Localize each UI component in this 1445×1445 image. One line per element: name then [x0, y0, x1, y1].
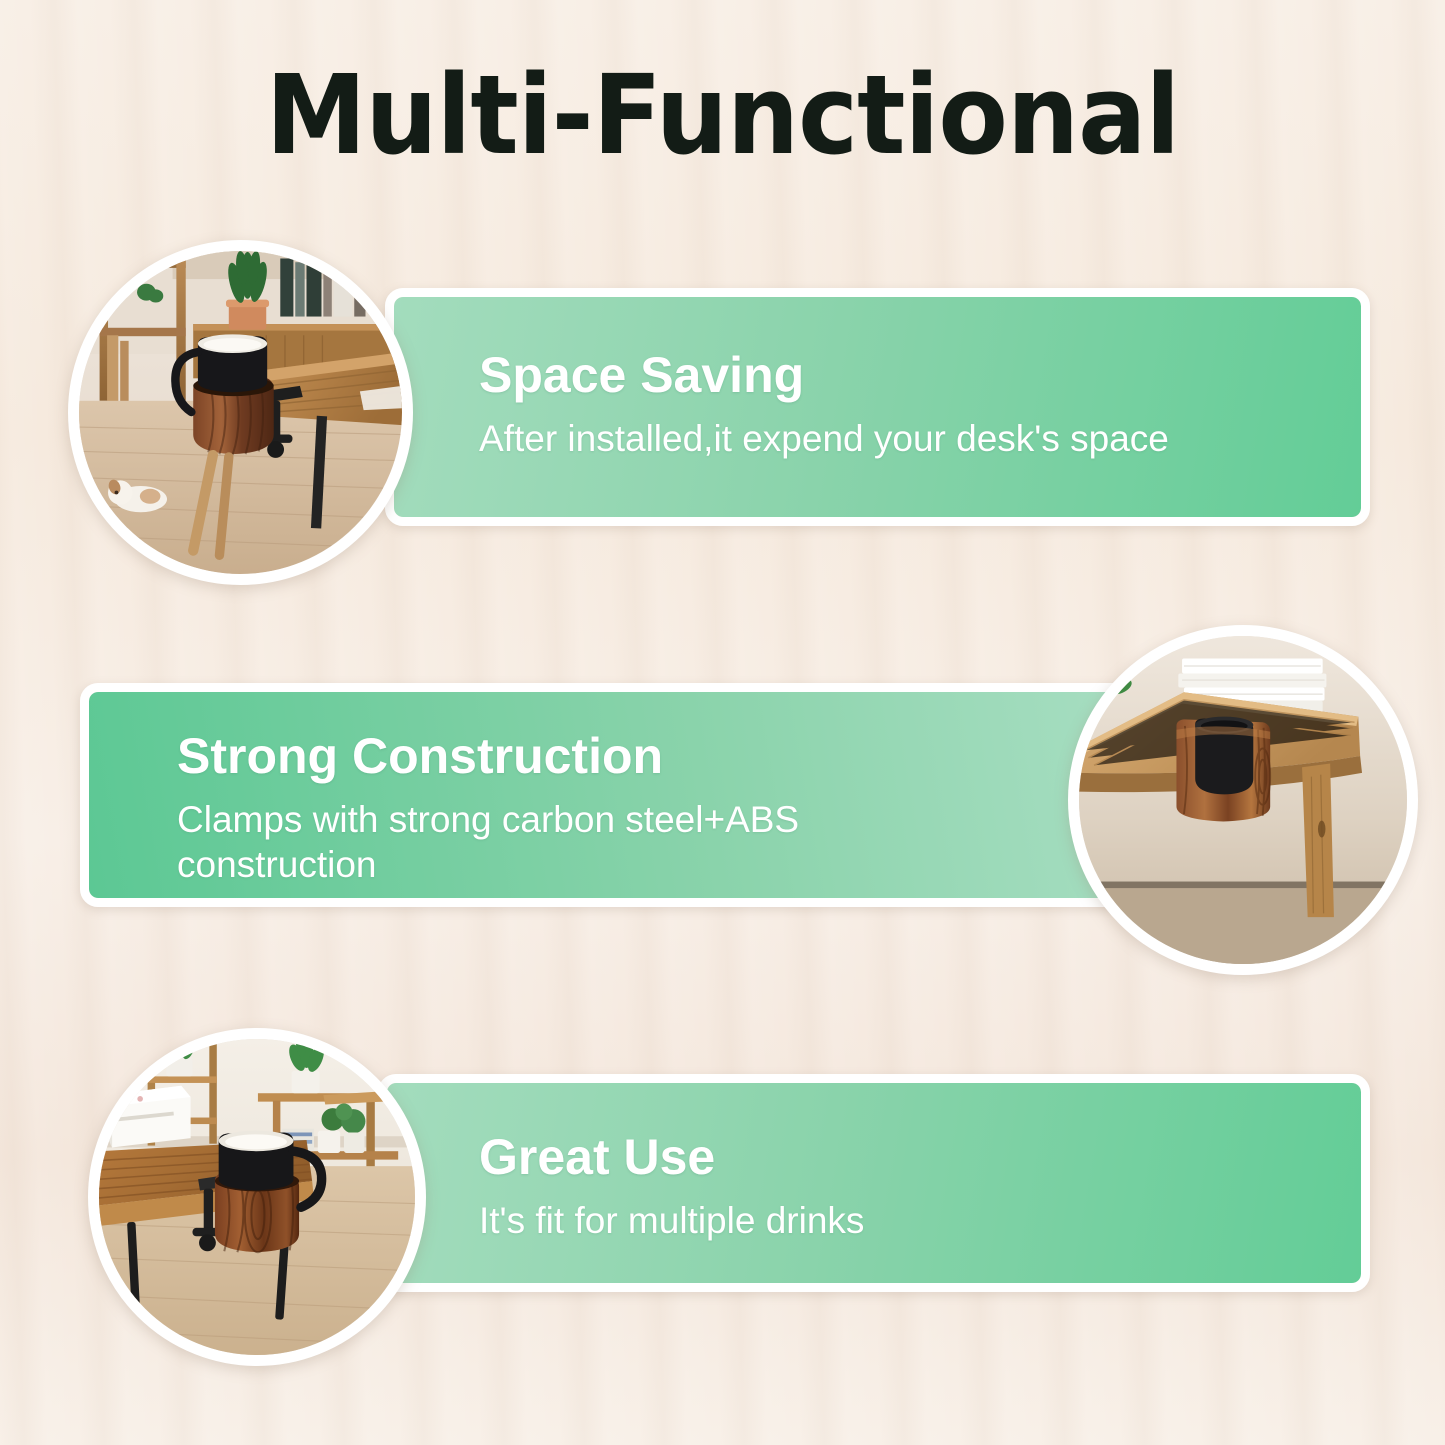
feature-banner-1: Space Saving After installed,it expend y…: [385, 288, 1370, 526]
feature-subtitle-1: After installed,it expend your desk's sp…: [479, 416, 1331, 461]
feature-photo-3: [88, 1028, 426, 1366]
feature-subtitle-2: Clamps with strong carbon steel+ABS cons…: [177, 797, 937, 887]
feature-banner-1-text: Space Saving After installed,it expend y…: [479, 349, 1331, 461]
photo-3-illustration: [99, 1039, 415, 1355]
feature-photo-1: [68, 240, 413, 585]
feature-heading-3: Great Use: [479, 1131, 1331, 1184]
feature-banner-2-text: Strong Construction Clamps with strong c…: [177, 730, 937, 887]
photo-1-illustration: [79, 251, 402, 574]
feature-banner-3: Great Use It's fit for multiple drinks: [378, 1074, 1370, 1292]
feature-subtitle-3: It's fit for multiple drinks: [479, 1198, 1331, 1243]
feature-heading-1: Space Saving: [479, 349, 1331, 402]
page-title: Multi-Functional: [58, 60, 1387, 170]
feature-banner-2: Strong Construction Clamps with strong c…: [80, 683, 1155, 907]
photo-2-illustration: [1079, 636, 1407, 964]
feature-heading-2: Strong Construction: [177, 730, 937, 783]
feature-photo-2: [1068, 625, 1418, 975]
feature-banner-3-text: Great Use It's fit for multiple drinks: [479, 1131, 1331, 1243]
